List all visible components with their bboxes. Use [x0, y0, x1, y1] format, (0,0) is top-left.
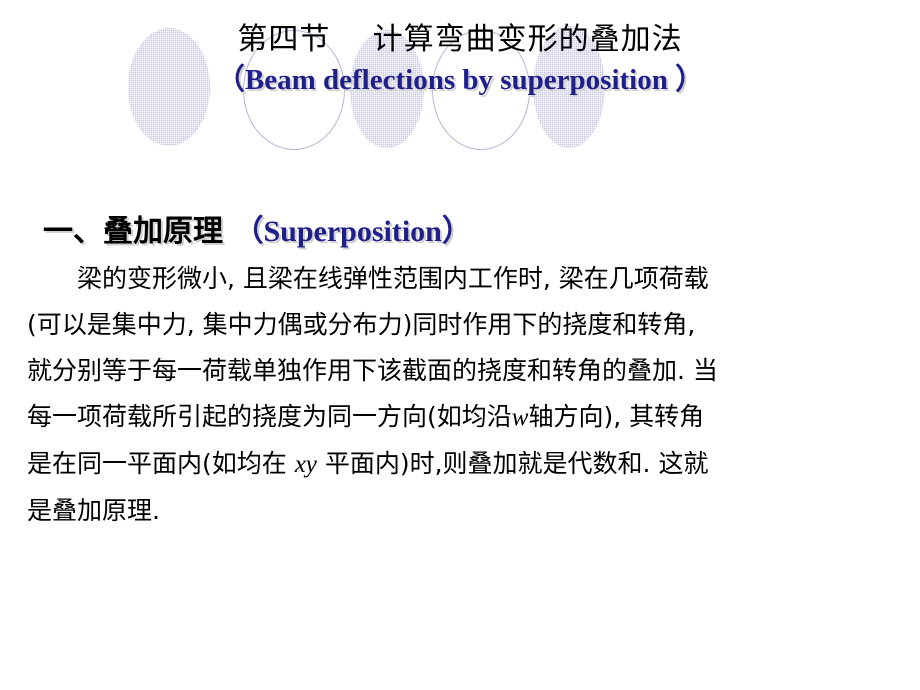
variable-w: w	[512, 404, 529, 431]
body-line-3: 就分别等于每一荷载单独作用下该截面的挠度和转角的叠加. 当	[27, 348, 893, 394]
variable-xy: xy	[295, 451, 317, 478]
section-heading-chinese: 一、叠加原理	[43, 214, 233, 249]
body-line-5-suffix: 平面内)时,则叠加就是代数和. 这就	[317, 449, 709, 478]
slide-canvas: 第四节 计算弯曲变形的叠加法 （Beam deflections by supe…	[0, 0, 920, 690]
body-line-6: 是叠加原理.	[27, 488, 893, 534]
body-line-5-prefix: 是在同一平面内(如均在	[27, 449, 295, 478]
slide-title-english: （Beam deflections by superposition ）	[0, 60, 920, 100]
body-line-4-prefix: 每一项荷载所引起的挠度为同一方向(如均沿	[27, 402, 512, 431]
body-line-1: 梁的变形微小, 且梁在线弹性范围内工作时, 梁在几项荷载	[27, 256, 893, 302]
body-line-5: 是在同一平面内(如均在 xy 平面内)时,则叠加就是代数和. 这就	[27, 441, 893, 488]
slide-title-block: 第四节 计算弯曲变形的叠加法 （Beam deflections by supe…	[0, 20, 920, 100]
section-heading-english: （Superposition）	[233, 215, 471, 248]
slide-title-chinese: 第四节 计算弯曲变形的叠加法	[0, 20, 920, 60]
body-paragraph: 梁的变形微小, 且梁在线弹性范围内工作时, 梁在几项荷载 (可以是集中力, 集中…	[27, 256, 893, 534]
body-line-2: (可以是集中力, 集中力偶或分布力)同时作用下的挠度和转角,	[27, 302, 893, 348]
body-line-4-suffix: 轴方向), 其转角	[528, 402, 704, 431]
body-line-4: 每一项荷载所引起的挠度为同一方向(如均沿w轴方向), 其转角	[27, 394, 893, 441]
